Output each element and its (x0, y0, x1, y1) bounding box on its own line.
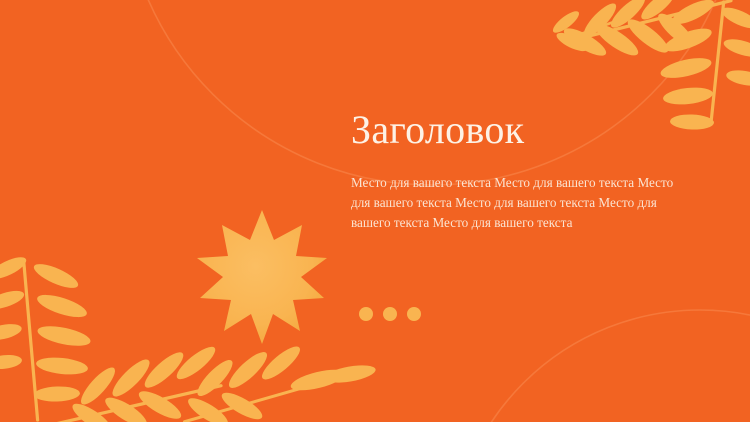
presentation-slide: Заголовок Место для вашего текста Место … (0, 0, 750, 422)
slide-text-block: Заголовок Место для вашего текста Место … (351, 108, 691, 233)
circle-arc-lower-right (450, 310, 750, 422)
dot-indicator-2[interactable] (383, 307, 397, 321)
dot-indicator-3[interactable] (407, 307, 421, 321)
body-placeholder-text: Место для вашего текста Место для вашего… (351, 173, 683, 233)
page-title: Заголовок (351, 108, 691, 151)
dot-indicator-1[interactable] (359, 307, 373, 321)
starburst-shape (197, 210, 327, 344)
dot-indicator-group (359, 307, 421, 321)
